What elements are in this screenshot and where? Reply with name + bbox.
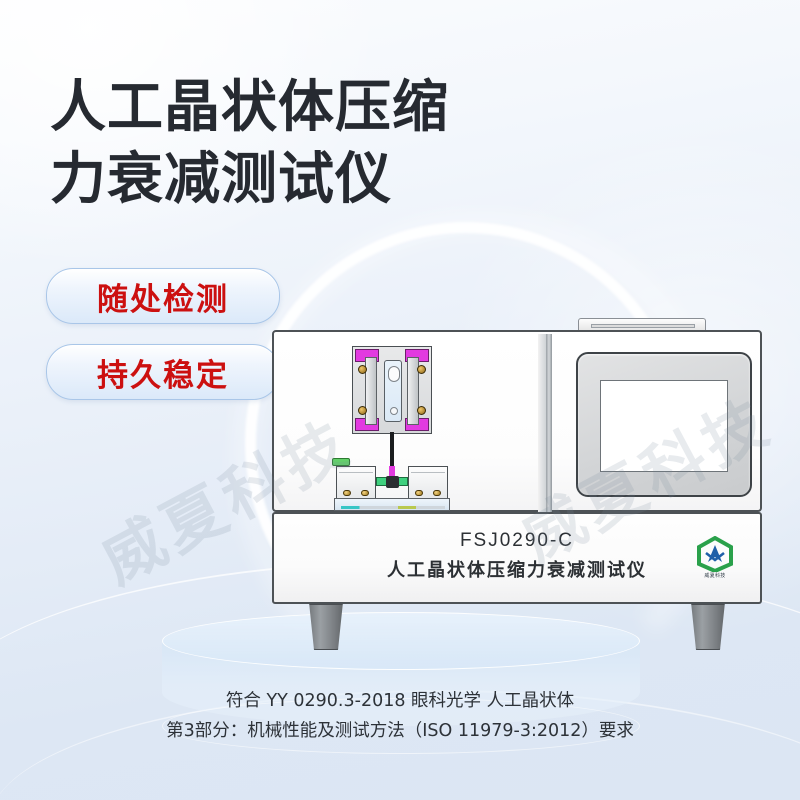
touchscreen-bezel bbox=[576, 352, 752, 497]
fixture-screw-right bbox=[433, 490, 441, 496]
standards-caption: 符合 YY 0290.3-2018 眼科光学 人工晶状体 第3部分：机械性能及测… bbox=[0, 686, 800, 746]
body-vertical-divider bbox=[546, 334, 552, 512]
feature-badge-label: 持久稳定 bbox=[97, 350, 229, 395]
feature-badge-anywhere-detection: 随处检测 bbox=[46, 268, 280, 324]
feature-badge-list: 随处检测 持久稳定 bbox=[46, 268, 280, 420]
page-title: 人工晶状体压缩 力衰减测试仪 bbox=[50, 72, 610, 216]
instrument-label-panel: FSJ0290-C 人工晶状体压缩力衰减测试仪 威夏科技 bbox=[272, 512, 762, 604]
product-poster: 人工晶状体压缩 力衰减测试仪 随处检测 持久稳定 bbox=[0, 0, 800, 800]
touchscreen-display[interactable] bbox=[600, 380, 728, 472]
instrument-foot-right bbox=[688, 604, 728, 650]
feature-badge-label: 随处检测 bbox=[97, 274, 229, 319]
fixture-screw-right bbox=[361, 490, 369, 496]
specimen-fixture-left bbox=[336, 466, 376, 500]
panel-edge bbox=[538, 334, 546, 512]
instrument-upper-body bbox=[272, 330, 762, 512]
clamp-knob-bottom-left bbox=[358, 406, 367, 415]
clamp-knob-bottom-right bbox=[417, 406, 426, 415]
center-coupling bbox=[376, 477, 408, 486]
feature-badge-long-term-stability: 持久稳定 bbox=[46, 344, 280, 400]
product-name: 人工晶状体压缩力衰减测试仪 bbox=[274, 556, 760, 582]
fixture-top-line bbox=[411, 472, 445, 473]
model-number: FSJ0290-C bbox=[274, 530, 760, 552]
brand-logo-text: 威夏科技 bbox=[704, 573, 725, 579]
clamp-knob-top-left bbox=[358, 365, 367, 374]
hexagon-logo-icon bbox=[695, 536, 735, 572]
mechanism-base-rail bbox=[334, 498, 450, 511]
brand-logo: 威夏科技 bbox=[692, 536, 738, 586]
instrument-illustration: FSJ0290-C 人工晶状体压缩力衰减测试仪 威夏科技 bbox=[272, 330, 762, 630]
fixture-screw-left bbox=[343, 490, 351, 496]
clamp-specimen-slot bbox=[384, 360, 402, 422]
fixture-top-line bbox=[339, 472, 373, 473]
clamp-knob-top-right bbox=[417, 365, 426, 374]
fixture-screw-left bbox=[415, 490, 423, 496]
compression-test-mechanism bbox=[332, 346, 452, 506]
specimen-fixture-right bbox=[408, 466, 448, 500]
specimen-tray-green-tab bbox=[332, 458, 350, 466]
clamp-head-assembly bbox=[352, 346, 432, 434]
